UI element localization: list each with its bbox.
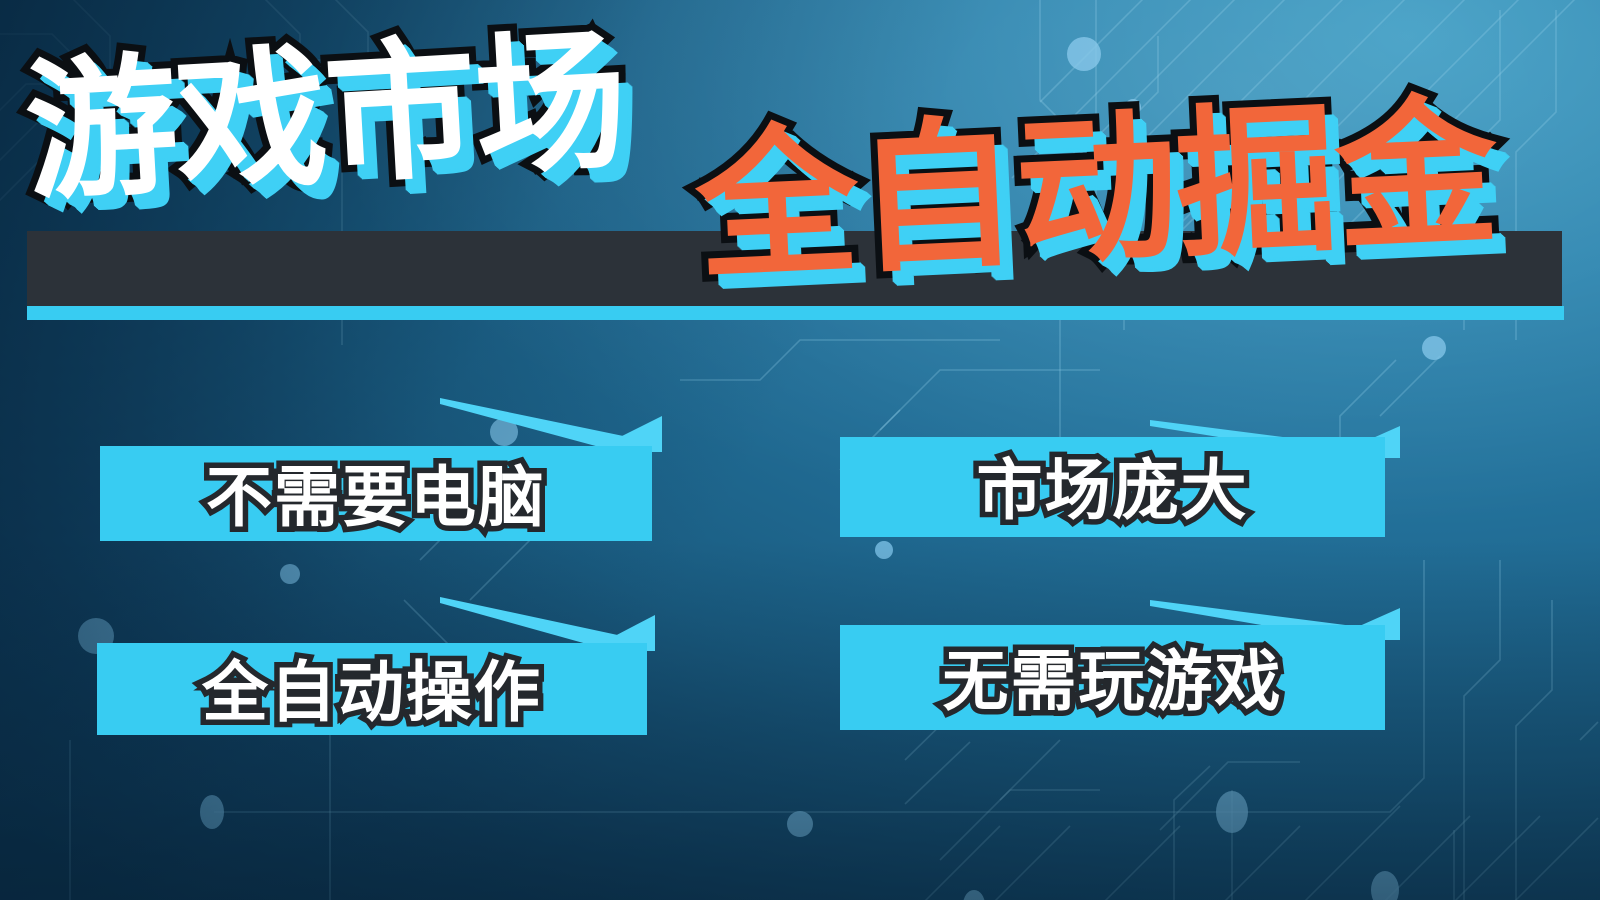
headline-band xyxy=(27,231,1562,315)
feature-label: 不需要电脑 xyxy=(206,444,546,540)
feature-label: 无需玩游戏 xyxy=(943,628,1283,724)
feature-box-fully-automatic: 全自动操作 xyxy=(97,643,647,735)
feature-box-no-gameplay: 无需玩游戏 xyxy=(840,625,1385,730)
feature-box-no-computer: 不需要电脑 xyxy=(100,446,652,541)
feature-label: 全自动操作 xyxy=(202,639,542,735)
headline-band-underline xyxy=(27,306,1564,320)
feature-box-large-market: 市场庞大 xyxy=(840,437,1385,537)
poster-canvas: 游戏市场 全自动掘金 不需要电脑 市场庞大 全自动操作 无需玩游戏 xyxy=(0,0,1600,900)
feature-label: 市场庞大 xyxy=(977,437,1249,533)
